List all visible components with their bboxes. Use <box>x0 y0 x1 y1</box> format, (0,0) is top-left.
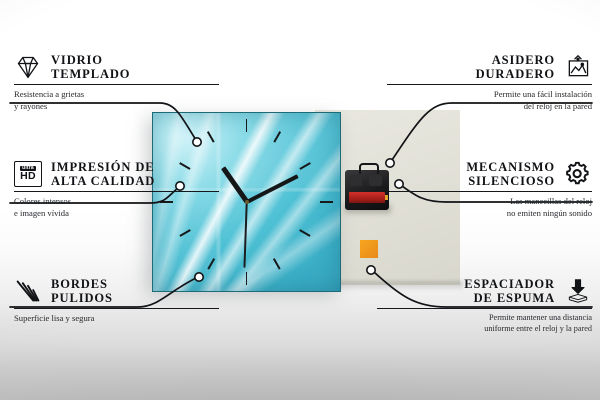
feature-description: Colores intensos e imagen vívida <box>14 196 219 219</box>
feature-title-line1: MECANISMO <box>466 160 555 174</box>
feature-asidero-duradero: ASIDERO DURADERO Permite una fácil insta… <box>387 53 592 112</box>
clock-center-cap <box>245 200 249 204</box>
clock-hour-hand <box>221 166 249 203</box>
foam-spacer <box>360 240 378 258</box>
feature-impresion-alta-calidad: ultra HD IMPRESIÓN DE ALTA CALIDAD Color… <box>14 160 219 219</box>
feature-header: ASIDERO DURADERO <box>387 53 592 81</box>
feature-title-line2: PULIDOS <box>51 291 113 305</box>
down-arrow-spacer-icon <box>564 278 592 304</box>
gear-icon <box>564 161 592 187</box>
feature-divider <box>14 191 219 192</box>
feature-divider <box>14 84 219 85</box>
feature-title-line1: IMPRESIÓN DE <box>51 160 155 174</box>
feature-title-line1: VIDRIO <box>51 53 130 67</box>
feature-description: Las manecillas del reloj no emiten ningú… <box>387 196 592 219</box>
feature-title-line2: ALTA CALIDAD <box>51 174 155 188</box>
feature-description: Superficie lisa y segura <box>14 313 219 325</box>
feature-header: MECANISMO SILENCIOSO <box>387 160 592 188</box>
mechanism-port-right <box>369 175 382 186</box>
feature-title: IMPRESIÓN DE ALTA CALIDAD <box>51 160 155 188</box>
feature-title: MECANISMO SILENCIOSO <box>466 160 555 188</box>
feature-title: ESPACIADOR DE ESPUMA <box>464 277 555 305</box>
feature-header: VIDRIO TEMPLADO <box>14 53 219 81</box>
clock-second-hand <box>243 202 247 268</box>
feature-divider <box>14 308 219 309</box>
infographic-canvas: VIDRIO TEMPLADO Resistencia a grietas y … <box>0 0 600 400</box>
diamond-icon <box>14 54 42 80</box>
feature-divider <box>387 191 592 192</box>
feature-title-line2: DURADERO <box>476 67 555 81</box>
feature-header: ESPACIADOR DE ESPUMA <box>377 277 592 305</box>
mechanism-port-left <box>350 175 362 186</box>
ultra-hd-large-label: HD <box>20 171 36 182</box>
feature-title: BORDES PULIDOS <box>51 277 113 305</box>
feature-espaciador-de-espuma: ESPACIADOR DE ESPUMA Permite mantener un… <box>377 277 592 335</box>
polished-edges-icon <box>14 278 42 304</box>
feature-bordes-pulidos: BORDES PULIDOS Superficie lisa y segura <box>14 277 219 325</box>
feature-description: Permite una fácil instalación del reloj … <box>387 89 592 112</box>
clock-mechanism <box>345 170 389 210</box>
feature-header: BORDES PULIDOS <box>14 277 219 305</box>
clock-minute-hand <box>246 174 299 204</box>
feature-header: ultra HD IMPRESIÓN DE ALTA CALIDAD <box>14 160 219 188</box>
feature-title: VIDRIO TEMPLADO <box>51 53 130 81</box>
feature-description: Resistencia a grietas y rayones <box>14 89 219 112</box>
ultra-hd-icon: ultra HD <box>14 161 42 187</box>
feature-description: Permite mantener una distancia uniforme … <box>377 313 592 335</box>
feature-title-line1: ESPACIADOR <box>464 277 555 291</box>
battery <box>349 192 385 203</box>
feature-title-line2: SILENCIOSO <box>466 174 555 188</box>
feature-title-line1: BORDES <box>51 277 113 291</box>
feature-vidrio-templado: VIDRIO TEMPLADO Resistencia a grietas y … <box>14 53 219 112</box>
picture-hanger-icon <box>564 54 592 80</box>
feature-title-line2: TEMPLADO <box>51 67 130 81</box>
feature-divider <box>377 308 592 309</box>
feature-mecanismo-silencioso: MECANISMO SILENCIOSO Las manecillas del … <box>387 160 592 219</box>
feature-title-line2: DE ESPUMA <box>464 291 555 305</box>
feature-title: ASIDERO DURADERO <box>476 53 555 81</box>
feature-divider <box>387 84 592 85</box>
feature-title-line1: ASIDERO <box>476 53 555 67</box>
